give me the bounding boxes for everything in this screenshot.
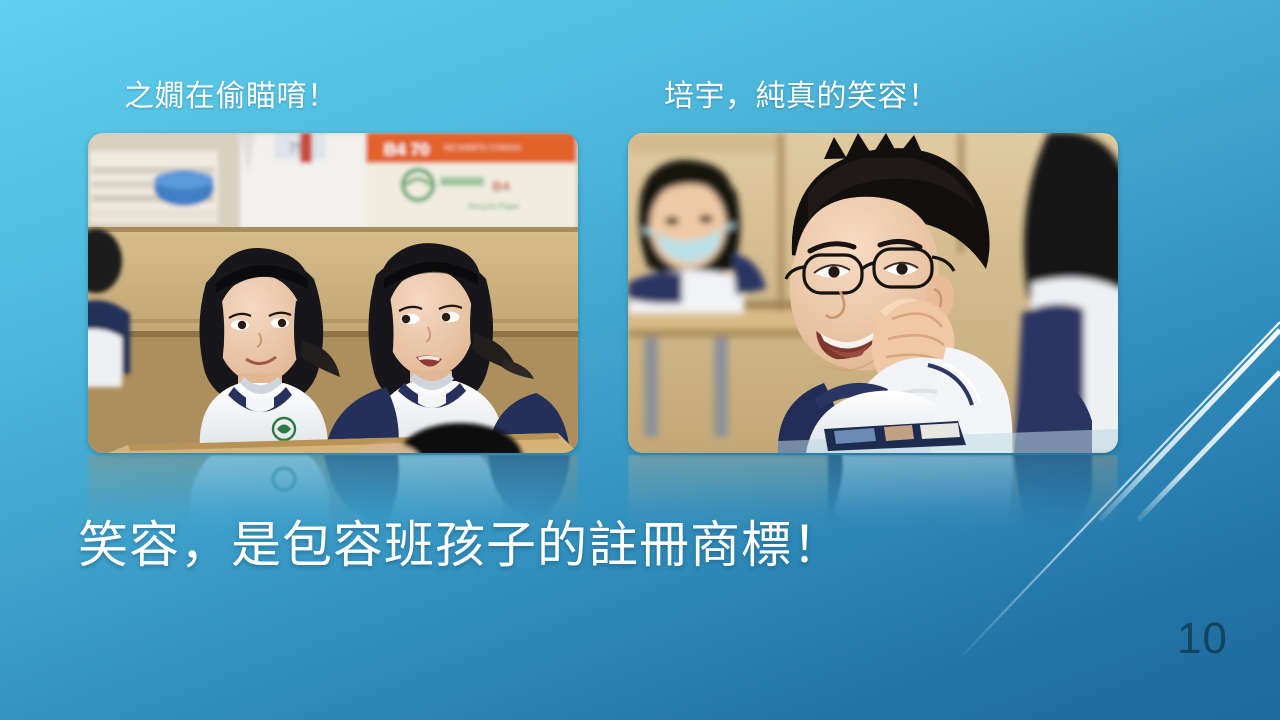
classroom-boy-photo[interactable] [628, 133, 1118, 453]
presentation-slide: 75 B4 70 500 SHEETS / 5 PACKS B4 Recycle… [0, 0, 1280, 720]
classroom-girls-photo-content: 75 B4 70 500 SHEETS / 5 PACKS B4 Recycle… [88, 133, 578, 453]
svg-text:Recycle Paper: Recycle Paper [468, 202, 520, 211]
left-photo-caption: 之嫺在偷瞄唷！ [124, 79, 338, 114]
classroom-boy-photo-content [628, 133, 1118, 453]
right-photo-caption: 培宇，純真的笑容！ [664, 79, 939, 114]
left-photo-block: 75 B4 70 500 SHEETS / 5 PACKS B4 Recycle… [88, 133, 578, 453]
page-number: 10 [1177, 614, 1228, 664]
svg-text:B4: B4 [492, 178, 510, 194]
classroom-girls-photo[interactable]: 75 B4 70 500 SHEETS / 5 PACKS B4 Recycle… [88, 133, 578, 453]
svg-text:500 SHEETS / 5 PACKS: 500 SHEETS / 5 PACKS [444, 145, 521, 152]
slide-headline: 笑容，是包容班孩子的註冊商標！ [78, 518, 843, 573]
svg-text:B4 70: B4 70 [384, 140, 429, 159]
right-photo-block [628, 133, 1118, 453]
